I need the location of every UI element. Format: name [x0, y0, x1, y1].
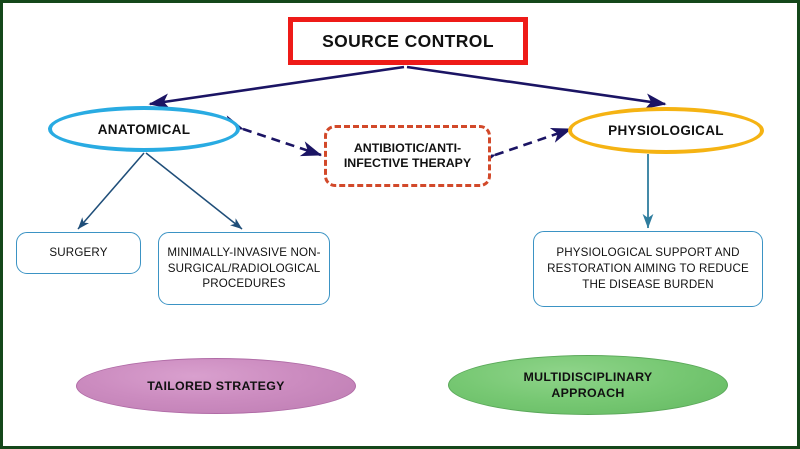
node-multidisciplinary-line2: APPROACH — [524, 385, 653, 401]
node-anatomical-label: ANATOMICAL — [98, 122, 191, 137]
edge-anatomical-to-surgery — [78, 153, 144, 229]
node-source-control[interactable]: SOURCE CONTROL — [288, 17, 528, 65]
node-multidisciplinary-approach[interactable]: MULTIDISCIPLINARY APPROACH — [448, 355, 728, 415]
node-antibiotic-line1: ANTIBIOTIC/ANTI- — [344, 141, 471, 157]
edge-antibiotic-physiological-bidirectional — [495, 129, 571, 155]
node-anatomical[interactable]: ANATOMICAL — [48, 106, 240, 152]
node-minimally-invasive-procedures[interactable]: MINIMALLY-INVASIVE NON- SURGICAL/RADIOLO… — [158, 232, 330, 305]
node-physiological-support-line2: RESTORATION AIMING TO REDUCE — [547, 261, 749, 277]
node-surgery-label: SURGERY — [49, 245, 107, 261]
node-tailored-strategy[interactable]: TAILORED STRATEGY — [76, 358, 356, 414]
edge-source-control-to-physiological — [407, 67, 665, 104]
node-tailored-strategy-label: TAILORED STRATEGY — [147, 378, 285, 394]
edge-anatomical-antibiotic-bidirectional — [243, 129, 321, 155]
edge-anatomical-to-minimally-invasive — [146, 153, 242, 229]
node-physiological[interactable]: PHYSIOLOGICAL — [568, 107, 764, 154]
edge-source-control-to-anatomical — [150, 67, 404, 104]
node-minimally-invasive-line3: PROCEDURES — [167, 276, 320, 292]
node-minimally-invasive-line1: MINIMALLY-INVASIVE NON- — [167, 245, 320, 261]
node-minimally-invasive-line2: SURGICAL/RADIOLOGICAL — [167, 261, 320, 277]
node-antibiotic-therapy[interactable]: ANTIBIOTIC/ANTI- INFECTIVE THERAPY — [324, 125, 491, 187]
node-physiological-support-line1: PHYSIOLOGICAL SUPPORT AND — [547, 245, 749, 261]
node-multidisciplinary-line1: MULTIDISCIPLINARY — [524, 369, 653, 385]
node-source-control-label: SOURCE CONTROL — [322, 31, 494, 52]
node-antibiotic-line2: INFECTIVE THERAPY — [344, 156, 471, 172]
node-surgery[interactable]: SURGERY — [16, 232, 141, 274]
node-physiological-support[interactable]: PHYSIOLOGICAL SUPPORT AND RESTORATION AI… — [533, 231, 763, 307]
node-physiological-support-line3: THE DISEASE BURDEN — [547, 277, 749, 293]
diagram-canvas: SOURCE CONTROL ANATOMICAL PHYSIOLOGICAL … — [0, 0, 800, 449]
node-physiological-label: PHYSIOLOGICAL — [608, 123, 724, 138]
